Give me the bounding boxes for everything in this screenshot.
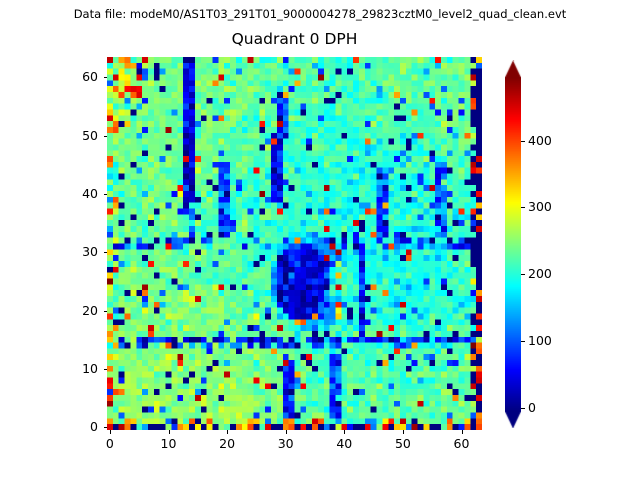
x-tick-mark xyxy=(227,430,228,434)
y-tick-label: 40 xyxy=(60,186,98,201)
colorbar-tick-mark xyxy=(521,141,525,142)
colorbar-tick-mark xyxy=(521,408,525,409)
y-tick-label: 0 xyxy=(60,419,98,434)
y-tick-label: 20 xyxy=(60,303,98,318)
y-tick-mark xyxy=(104,77,108,78)
x-tick-mark xyxy=(462,430,463,434)
x-tick-label: 40 xyxy=(324,436,364,451)
colorbar[interactable] xyxy=(505,60,521,428)
page-title: Quadrant 0 DPH xyxy=(107,30,482,48)
colorbar-tick-mark xyxy=(521,207,525,208)
x-tick-mark xyxy=(286,430,287,434)
y-tick-mark xyxy=(104,427,108,428)
colorbar-tick-label: 0 xyxy=(528,400,536,415)
colorbar-tick-label: 200 xyxy=(528,266,552,281)
data-file-label: Data file: modeM0/AS1T03_291T01_90000042… xyxy=(0,7,640,21)
colorbar-tick-label: 300 xyxy=(528,199,552,214)
y-tick-label: 50 xyxy=(60,128,98,143)
y-tick-label: 30 xyxy=(60,244,98,259)
y-tick-mark xyxy=(104,311,108,312)
colorbar-gradient[interactable] xyxy=(505,60,521,428)
x-tick-label: 60 xyxy=(442,436,482,451)
y-tick-mark xyxy=(104,136,108,137)
x-tick-mark xyxy=(169,430,170,434)
x-tick-label: 10 xyxy=(149,436,189,451)
y-tick-label: 10 xyxy=(60,361,98,376)
colorbar-tick-label: 400 xyxy=(528,133,552,148)
x-tick-label: 20 xyxy=(207,436,247,451)
x-tick-label: 50 xyxy=(383,436,423,451)
colorbar-tick-mark xyxy=(521,274,525,275)
y-tick-mark xyxy=(104,369,108,370)
x-tick-label: 0 xyxy=(90,436,130,451)
x-tick-mark xyxy=(110,430,111,434)
y-tick-mark xyxy=(104,194,108,195)
figure-canvas: Data file: modeM0/AS1T03_291T01_90000042… xyxy=(0,0,640,480)
colorbar-tick-label: 100 xyxy=(528,333,552,348)
heatmap-image[interactable] xyxy=(107,57,482,430)
colorbar-tick-mark xyxy=(521,341,525,342)
x-tick-label: 30 xyxy=(266,436,306,451)
y-tick-mark xyxy=(104,252,108,253)
y-tick-label: 60 xyxy=(60,69,98,84)
heatmap-plot-area[interactable] xyxy=(107,57,482,430)
x-tick-mark xyxy=(403,430,404,434)
x-tick-mark xyxy=(344,430,345,434)
